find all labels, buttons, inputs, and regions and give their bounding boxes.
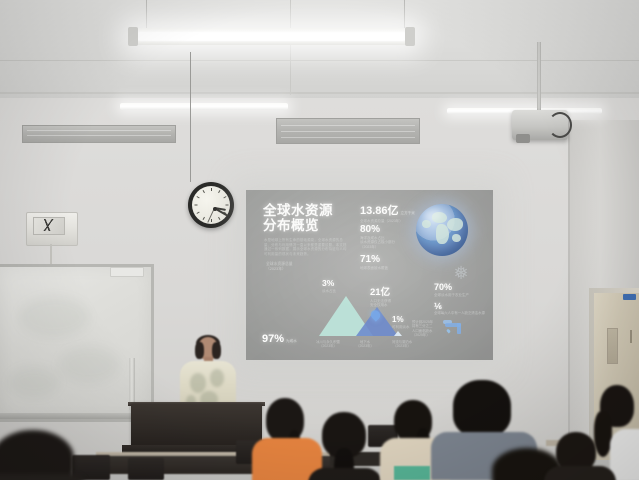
stat-sub: 海洋及咸水占比 淡水资源仅占极小部分 （2023年）	[360, 236, 395, 249]
stat-population-affected: 21亿 人口无法获得 安全饮用水	[370, 284, 391, 308]
slide-title: 全球水资源 分布概览	[263, 203, 333, 233]
light-end-cap	[405, 27, 415, 46]
light-end-cap	[128, 27, 138, 46]
clock-hanger	[190, 52, 191, 182]
chart-caption: 地下水 （2023年）	[350, 340, 380, 349]
audience-torso	[0, 474, 88, 480]
projector-mount-pole	[537, 42, 541, 110]
fraction-stat: ⅙ 全球每六人中有一人缺乏清洁水源	[434, 302, 486, 315]
stat-sub: 地球表面被水覆盖	[360, 266, 388, 270]
stat-sub: 淡水占比	[322, 289, 336, 293]
audience-torso	[544, 466, 616, 480]
stat-value: 13.86亿	[360, 205, 399, 217]
ceiling-seam	[0, 60, 639, 61]
globe-icon	[416, 204, 468, 256]
chart-caption: 冰川与永久积雪 （2023年）	[308, 340, 348, 349]
faucet-icon	[442, 320, 468, 336]
light-hanger-wire	[404, 0, 405, 28]
stat-value: 97%	[262, 333, 284, 345]
air-duct-left	[22, 125, 176, 143]
stat-unit: 立方千米	[401, 211, 415, 215]
projected-slide: 全球水资源 分布概览 水是地球上所有生命的基础源泉，全球水资源的总量、分布与利用…	[246, 190, 493, 360]
chart-caption: 河流与湖泊水 （2023年）	[382, 340, 422, 349]
presenter-hair-side	[195, 342, 204, 359]
whiteboard-tray	[0, 413, 148, 419]
snowflake-icon: ❅	[450, 262, 472, 284]
stat-glacier-share: 71% 地球表面被水覆盖	[360, 254, 388, 270]
speaker-marking	[36, 219, 60, 231]
stat-value: 21亿	[370, 287, 390, 298]
clock-center-pin	[213, 207, 217, 211]
fraction-value: ⅙	[434, 302, 486, 311]
stat-unit: 为咸水	[286, 339, 297, 343]
door-handle[interactable]	[630, 330, 632, 343]
projector-lens	[516, 134, 530, 143]
stat-ocean-share: 80% 海洋及咸水占比 淡水资源仅占极小部分 （2023年）	[360, 224, 395, 249]
stat-total-volume: 13.86亿立方千米 全球水资源总量（2023年）	[360, 202, 415, 223]
ceiling-seam	[290, 0, 291, 95]
wall-speaker	[26, 212, 78, 246]
air-duct-right	[276, 118, 420, 144]
mountain-peak-icon	[394, 331, 402, 336]
stat-value: 3%	[322, 278, 334, 288]
whiteboard-label	[110, 267, 144, 277]
stat-freshwater-share: 3% 淡水占比	[322, 278, 336, 293]
ceiling-seam	[0, 92, 639, 94]
laptop-screen	[394, 466, 430, 480]
audience-torso	[308, 468, 382, 480]
lecture-hall-photo: 全球水资源 分布概览 水是地球上所有生命的基础源泉，全球水资源的总量、分布与利用…	[0, 0, 639, 480]
slide-left-caption: 全球水资源总量 （2023年）	[266, 262, 293, 272]
clock-face	[192, 186, 230, 224]
audience-head	[453, 380, 511, 436]
stat-sub: 全球水资源总量（2023年）	[360, 219, 415, 223]
door-window	[607, 328, 618, 364]
stat-saltwater-share: 97%为咸水	[262, 333, 297, 345]
exit-sign-icon	[623, 294, 636, 300]
faucet-caption: 预计到2025年 将有三分之二 人口面临缺水 （2025年）	[412, 320, 442, 337]
ceiling	[0, 0, 639, 100]
slide-title-line1: 全球水资源	[263, 203, 333, 218]
stat-value: 71%	[360, 254, 380, 265]
audience-torso	[610, 429, 639, 480]
ceiling-light-center	[130, 28, 413, 45]
slide-title-line2: 分布概览	[263, 218, 333, 233]
light-hanger-wire	[146, 0, 147, 28]
slide-body-text: 水是地球上所有生命的基础源泉，全球水资源的总量、分布与利用情况一直以来都是重要议…	[264, 238, 348, 256]
stat-sub: 全球淡水用于农业生产	[434, 293, 469, 297]
stat-value: 80%	[360, 224, 380, 235]
stat-agriculture-use: 70% 全球淡水用于农业生产	[434, 282, 469, 297]
chair-back	[128, 458, 164, 480]
projector-cable	[548, 112, 572, 138]
wall-corner	[568, 120, 570, 460]
presenter-hair-side	[212, 342, 221, 359]
fraction-sub: 全球每六人中有一人缺乏清洁水源	[434, 311, 486, 315]
wall-clock	[188, 182, 234, 228]
speaker-mount	[50, 244, 52, 266]
ceiling-light-left	[120, 103, 288, 110]
